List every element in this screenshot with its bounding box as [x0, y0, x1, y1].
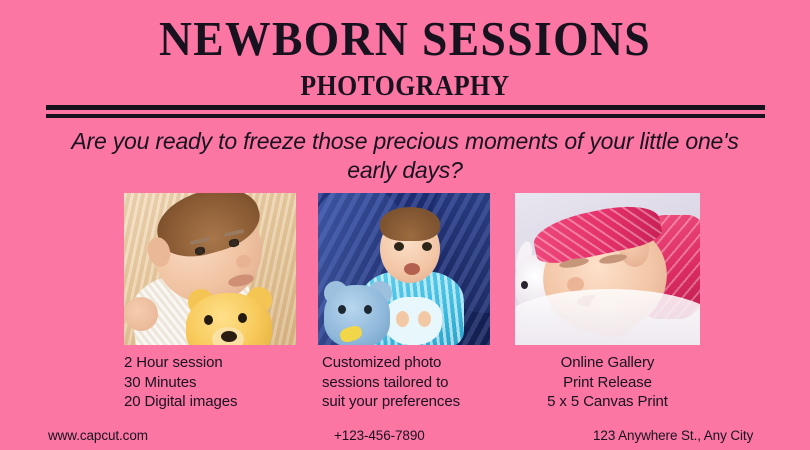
teddy-nose — [221, 331, 237, 342]
photo-3-artwork — [515, 193, 700, 345]
teddy-eye-left — [204, 315, 213, 325]
header-title-block: NEWBORN SESSIONS PHOTOGRAPHY — [0, 14, 810, 101]
divider-rule-bottom — [46, 114, 765, 118]
photo-baby-in-blue-outfit-on-blue-blanket — [318, 193, 490, 345]
baby-bib — [384, 297, 442, 345]
page-title: NEWBORN SESSIONS — [28, 14, 781, 63]
footer-website[interactable]: www.capcut.com — [48, 428, 148, 443]
bib-motif-right — [418, 311, 431, 327]
caption-customization: Customized photo sessions tailored to su… — [322, 353, 512, 412]
footer-address: 123 Anywhere St., Any City — [593, 428, 753, 443]
photo-baby-on-cream-fur-with-teddy-bear — [124, 193, 296, 345]
caption-line: Online Gallery — [515, 353, 700, 373]
baby-eye-left — [394, 242, 404, 251]
tagline-text: Are you ready to freeze those precious m… — [55, 127, 755, 185]
caption-line: Print Release — [515, 373, 700, 393]
caption-line: 20 Digital images — [124, 392, 314, 412]
caption-session-details: 2 Hour session 30 Minutes 20 Digital ima… — [124, 353, 314, 412]
teddy-eye-left — [338, 305, 346, 314]
bib-motif-left — [396, 311, 409, 327]
baby-eye-right — [422, 242, 432, 251]
caption-line: Customized photo — [322, 353, 512, 373]
caption-line: 30 Minutes — [124, 373, 314, 393]
photo-sleeping-baby-with-pink-headband — [515, 193, 700, 345]
caption-deliverables: Online Gallery Print Release 5 x 5 Canva… — [515, 353, 700, 412]
white-sheet-foreground — [515, 289, 700, 345]
page-subtitle: PHOTOGRAPHY — [32, 73, 777, 101]
baby-arm — [124, 297, 158, 331]
caption-line: sessions tailored to — [322, 373, 512, 393]
caption-line: 5 x 5 Canvas Print — [515, 392, 700, 412]
baby-hair — [380, 207, 440, 241]
divider-rule-top — [46, 105, 765, 110]
bunny-eye — [521, 281, 528, 289]
poster-canvas: NEWBORN SESSIONS PHOTOGRAPHY Are you rea… — [0, 0, 810, 450]
caption-line: 2 Hour session — [124, 353, 314, 373]
teddy-eye-right — [238, 313, 247, 323]
photo-1-artwork — [124, 193, 296, 345]
caption-line: suit your preferences — [322, 392, 512, 412]
teddy-eye-right — [364, 305, 372, 314]
baby-mouth — [404, 263, 420, 275]
footer-phone[interactable]: +123-456-7890 — [334, 428, 425, 443]
photo-2-artwork — [318, 193, 490, 345]
